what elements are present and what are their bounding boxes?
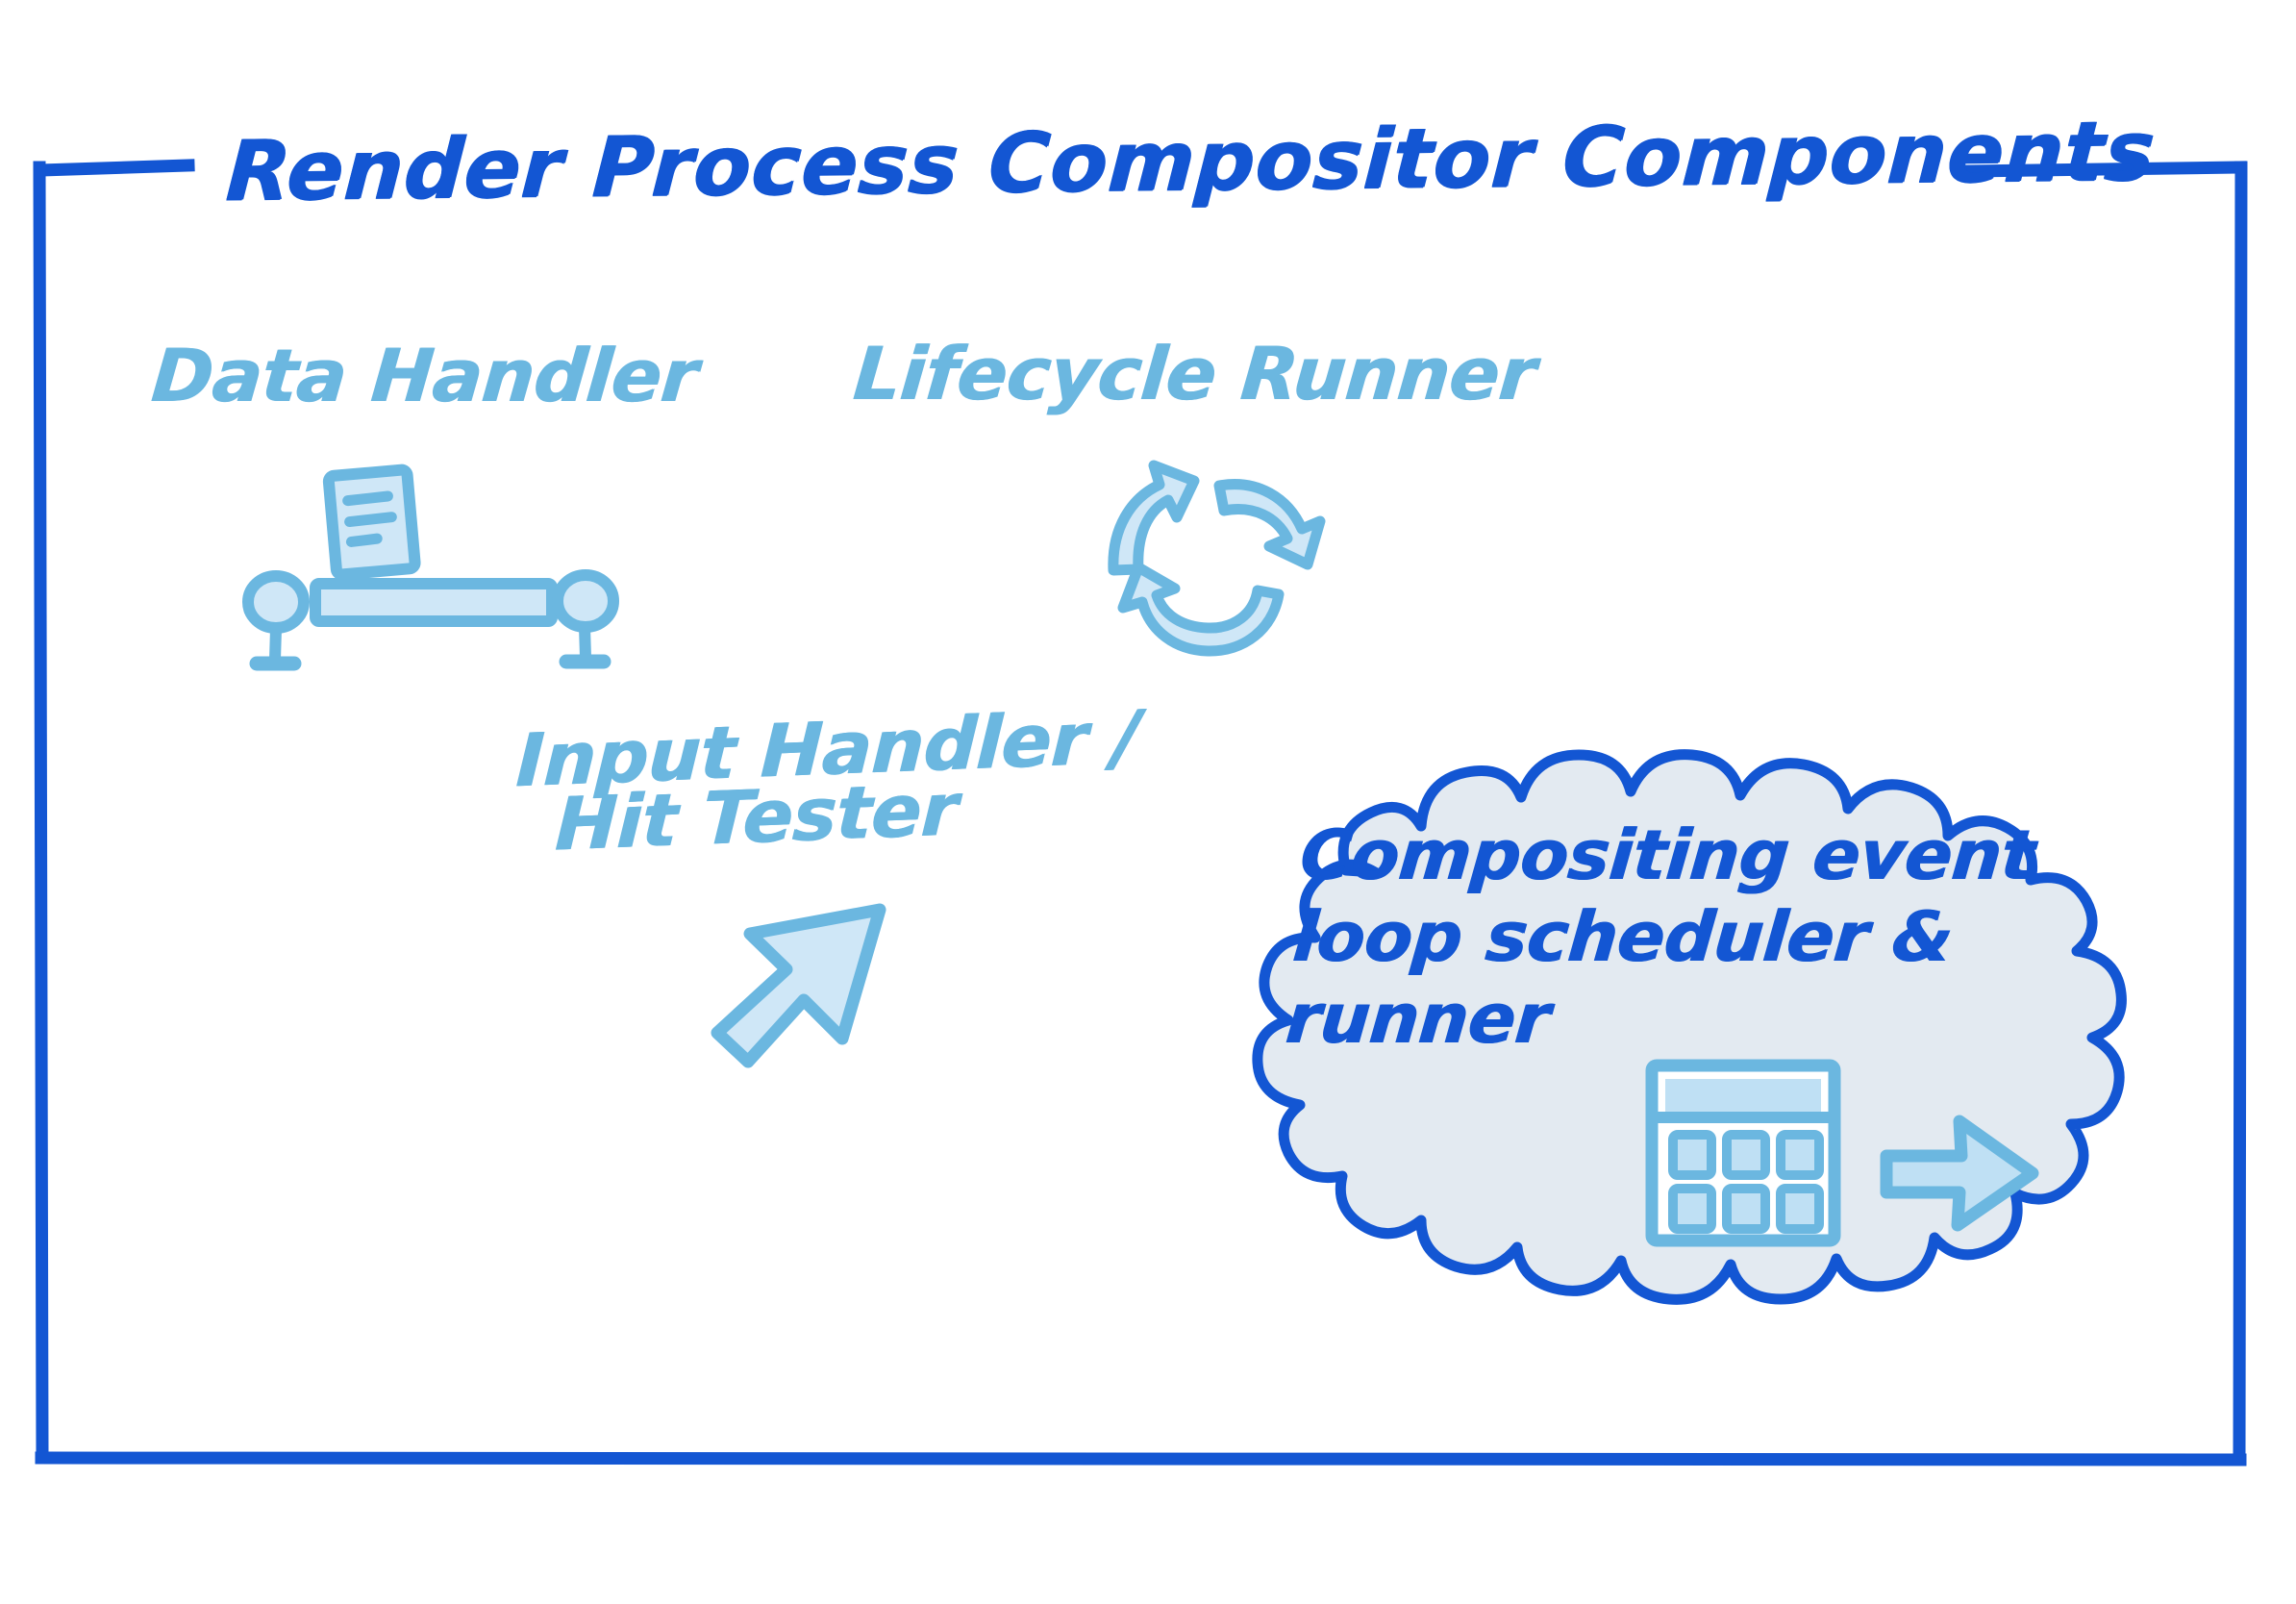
label-data-handler: Data Handler [149,338,701,414]
page-title: Render Process Compositor Components [223,104,2158,220]
label-lifecycle-runner: Lifecycle Runner [851,337,1538,412]
calendar-schedule-arrow-icon [1644,1058,2048,1254]
cloud-line-3: runner [1283,978,2135,1060]
document-on-rail-icon [240,450,625,694]
diagram-canvas: Render Process Compositor Components Dat… [0,0,2296,1604]
label-input-handler-hit-tester: Input Handler /Hit Tester [512,700,1141,864]
cloud-line-2: loop scheduler & [1289,896,2142,978]
cloud-line-1: Compositing event [1297,815,2150,896]
cycle-arrows-icon [1075,450,1383,694]
cloud-text: Compositing event loop scheduler & runne… [1283,815,2150,1060]
mouse-cursor-icon [690,892,902,1079]
